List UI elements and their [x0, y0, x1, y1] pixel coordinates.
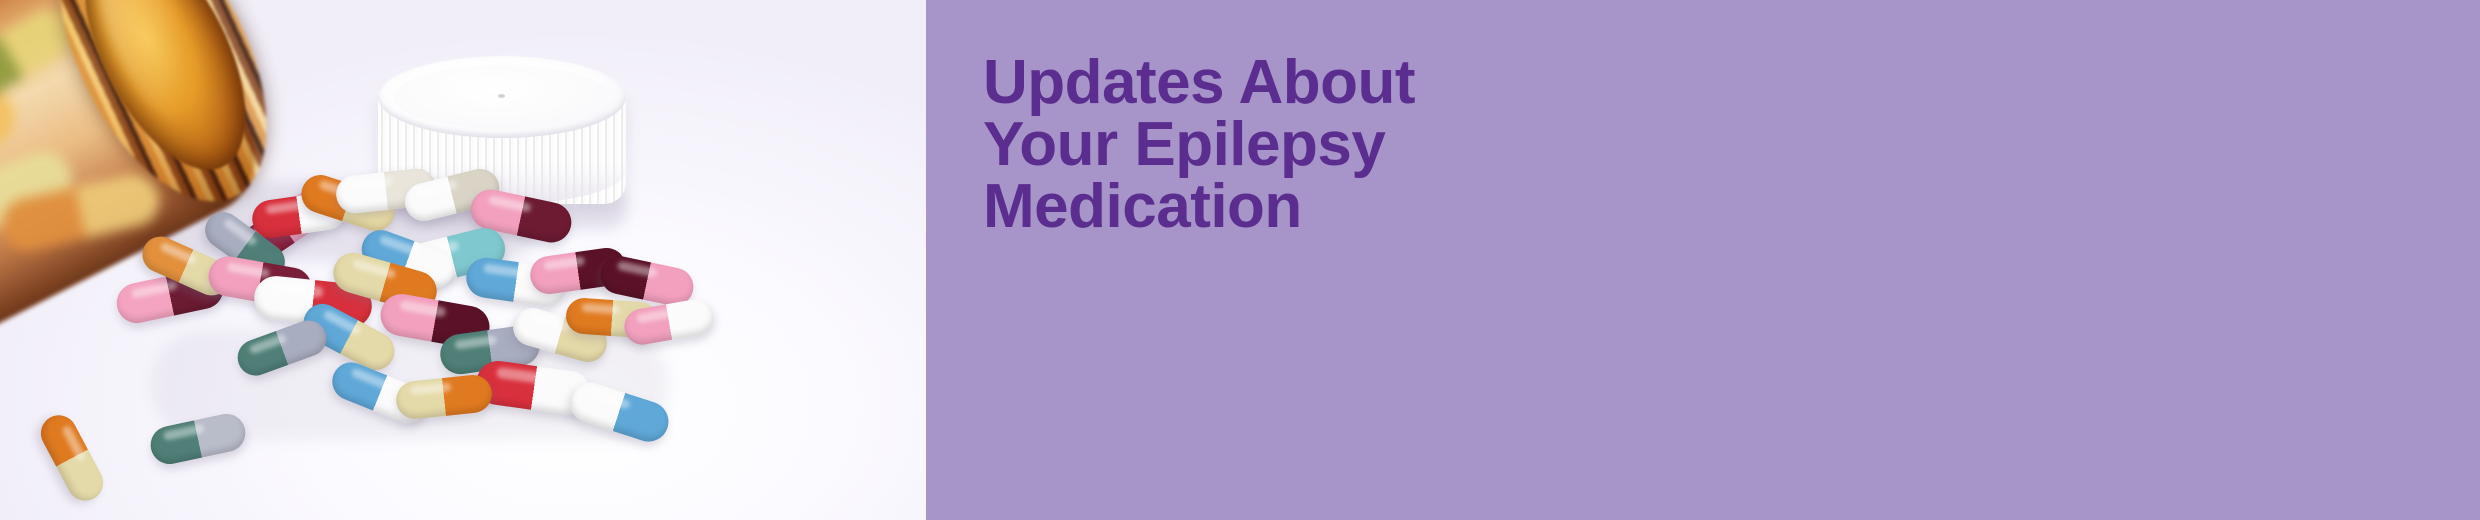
- page-title: Updates About Your Epilepsy Medication: [926, 0, 2480, 238]
- headline-line-2: Your Epilepsy: [983, 114, 2480, 176]
- cap-center-mark: [498, 94, 505, 98]
- hero-photo-panel: [0, 0, 926, 520]
- headline-panel: Updates About Your Epilepsy Medication: [926, 0, 2480, 520]
- promo-banner: Updates About Your Epilepsy Medication: [0, 0, 2480, 520]
- headline-line-3: Medication: [983, 176, 2480, 238]
- headline-line-1: Updates About: [983, 52, 2480, 114]
- pill-photograph: [0, 0, 926, 520]
